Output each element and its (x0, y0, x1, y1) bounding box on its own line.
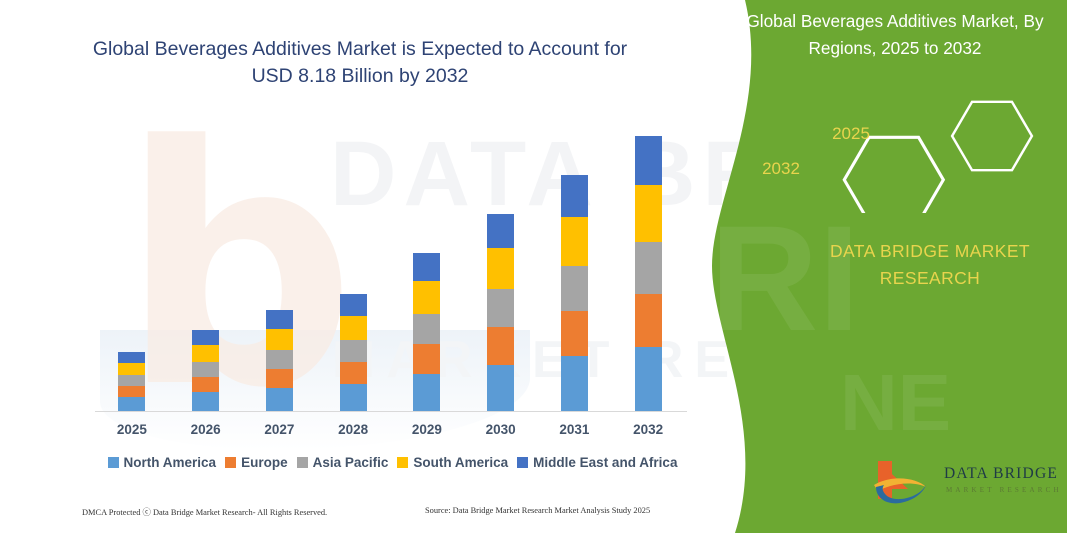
dbmr-logo-subtext: MARKET RESEARCH (946, 486, 1062, 494)
bar-segment-europe (192, 377, 219, 392)
footer-source: Source: Data Bridge Market Research Mark… (425, 506, 650, 515)
bar-segment-asia-pacific (118, 375, 145, 386)
bar-segment-europe (266, 369, 293, 388)
bar-segment-asia-pacific (635, 242, 662, 294)
green-panel-title: Global Beverages Additives Market, By Re… (735, 8, 1055, 62)
bar-segment-south-america (635, 185, 662, 242)
chart-legend: North AmericaEuropeAsia PacificSouth Ame… (95, 455, 690, 470)
bar-segment-europe (487, 327, 514, 365)
hexagon-2032-label: 2032 (745, 159, 817, 179)
legend-swatch-icon (225, 457, 236, 468)
stacked-bar-chart (95, 120, 685, 412)
bar-2027 (266, 310, 293, 411)
legend-swatch-icon (397, 457, 408, 468)
legend-item-south-america[interactable]: South America (397, 455, 508, 470)
bar-segment-asia-pacific (413, 314, 440, 344)
bar-2030 (487, 214, 514, 411)
bar-segment-middle-east-and-africa (340, 294, 367, 316)
bar-segment-middle-east-and-africa (561, 175, 588, 217)
green-panel-content: Global Beverages Additives Market, By Re… (690, 0, 1067, 533)
x-label-2029: 2029 (397, 422, 457, 437)
bar-segment-asia-pacific (561, 266, 588, 311)
hexagon-outlines (825, 93, 1065, 213)
green-side-panel: RI NE Global Beverages Additives Market,… (690, 0, 1067, 533)
green-panel-title-line2: Regions, 2025 to 2032 (735, 35, 1055, 62)
bar-2025 (118, 352, 145, 411)
chart-pane: Global Beverages Additives Market is Exp… (0, 0, 760, 533)
legend-item-north-america[interactable]: North America (108, 455, 217, 470)
green-panel-title-line1: Global Beverages Additives Market, By (746, 11, 1043, 31)
bar-segment-north-america (118, 397, 145, 411)
legend-item-europe[interactable]: Europe (225, 455, 288, 470)
bar-segment-middle-east-and-africa (266, 310, 293, 329)
x-label-2027: 2027 (249, 422, 309, 437)
legend-label: South America (413, 455, 508, 470)
dbmr-logo: DATA BRIDGE MARKET RESEARCH (868, 455, 1058, 517)
bar-segment-north-america (192, 392, 219, 411)
bar-segment-north-america (487, 365, 514, 411)
legend-swatch-icon (517, 457, 528, 468)
bar-segment-north-america (413, 374, 440, 411)
green-panel-brand: DATA BRIDGE MARKET RESEARCH (800, 238, 1060, 292)
green-panel-brand-line2: RESEARCH (800, 265, 1060, 292)
bar-2028 (340, 294, 367, 411)
bar-segment-asia-pacific (340, 340, 367, 362)
bar-segment-north-america (561, 356, 588, 411)
page-title-line2: USD 8.18 Billion by 2032 (40, 63, 680, 90)
bar-segment-europe (340, 362, 367, 384)
legend-label: Asia Pacific (313, 455, 389, 470)
bar-segment-middle-east-and-africa (413, 253, 440, 281)
x-label-2026: 2026 (176, 422, 236, 437)
bar-segment-asia-pacific (266, 350, 293, 369)
page-title-line1: Global Beverages Additives Market is Exp… (93, 38, 627, 60)
x-label-2028: 2028 (323, 422, 383, 437)
bar-segment-europe (118, 386, 145, 397)
bar-2032 (635, 136, 662, 411)
bar-segment-middle-east-and-africa (118, 352, 145, 363)
hexagon-2025-outline (952, 102, 1032, 170)
page-title: Global Beverages Additives Market is Exp… (40, 36, 680, 90)
footer: DMCA Protected ⓒ Data Bridge Market Rese… (0, 506, 700, 526)
x-label-2025: 2025 (102, 422, 162, 437)
bar-segment-north-america (340, 384, 367, 411)
dbmr-logo-mark (868, 455, 938, 511)
dbmr-logo-text: DATA BRIDGE (944, 465, 1058, 483)
bar-segment-south-america (340, 316, 367, 340)
legend-item-middle-east-and-africa[interactable]: Middle East and Africa (517, 455, 677, 470)
bar-segment-north-america (266, 388, 293, 411)
bar-segment-middle-east-and-africa (635, 136, 662, 185)
x-label-2030: 2030 (471, 422, 531, 437)
bar-segment-europe (561, 311, 588, 356)
bar-segment-middle-east-and-africa (487, 214, 514, 248)
bar-segment-asia-pacific (192, 362, 219, 377)
legend-swatch-icon (108, 457, 119, 468)
x-axis-line (95, 411, 687, 412)
footer-copyright: DMCA Protected ⓒ Data Bridge Market Rese… (82, 506, 327, 518)
infographic-root: b DATA BRIDGE MARKET RESEARCH Global Bev… (0, 0, 1067, 533)
bar-2029 (413, 253, 440, 411)
bar-segment-south-america (266, 329, 293, 350)
bar-segment-south-america (487, 248, 514, 289)
hexagon-group (825, 93, 1065, 213)
bar-segment-north-america (635, 347, 662, 411)
hexagon-2032-outline (844, 137, 943, 213)
x-label-2032: 2032 (618, 422, 678, 437)
legend-label: North America (124, 455, 217, 470)
bar-segment-south-america (413, 281, 440, 314)
bar-2031 (561, 175, 588, 411)
legend-label: Middle East and Africa (533, 455, 677, 470)
bar-segment-south-america (561, 217, 588, 266)
x-label-2031: 2031 (544, 422, 604, 437)
bar-segment-asia-pacific (487, 289, 514, 327)
bar-segment-europe (413, 344, 440, 374)
bar-segment-europe (635, 294, 662, 347)
legend-swatch-icon (297, 457, 308, 468)
x-axis-labels: 20252026202720282029203020312032 (95, 422, 687, 444)
green-panel-brand-line1: DATA BRIDGE MARKET (830, 241, 1030, 261)
legend-item-asia-pacific[interactable]: Asia Pacific (297, 455, 389, 470)
legend-label: Europe (241, 455, 288, 470)
bar-segment-south-america (118, 363, 145, 375)
bar-2026 (192, 330, 219, 411)
bar-segment-middle-east-and-africa (192, 330, 219, 345)
hexagon-2025-label: 2025 (815, 124, 887, 144)
bar-segment-south-america (192, 345, 219, 362)
